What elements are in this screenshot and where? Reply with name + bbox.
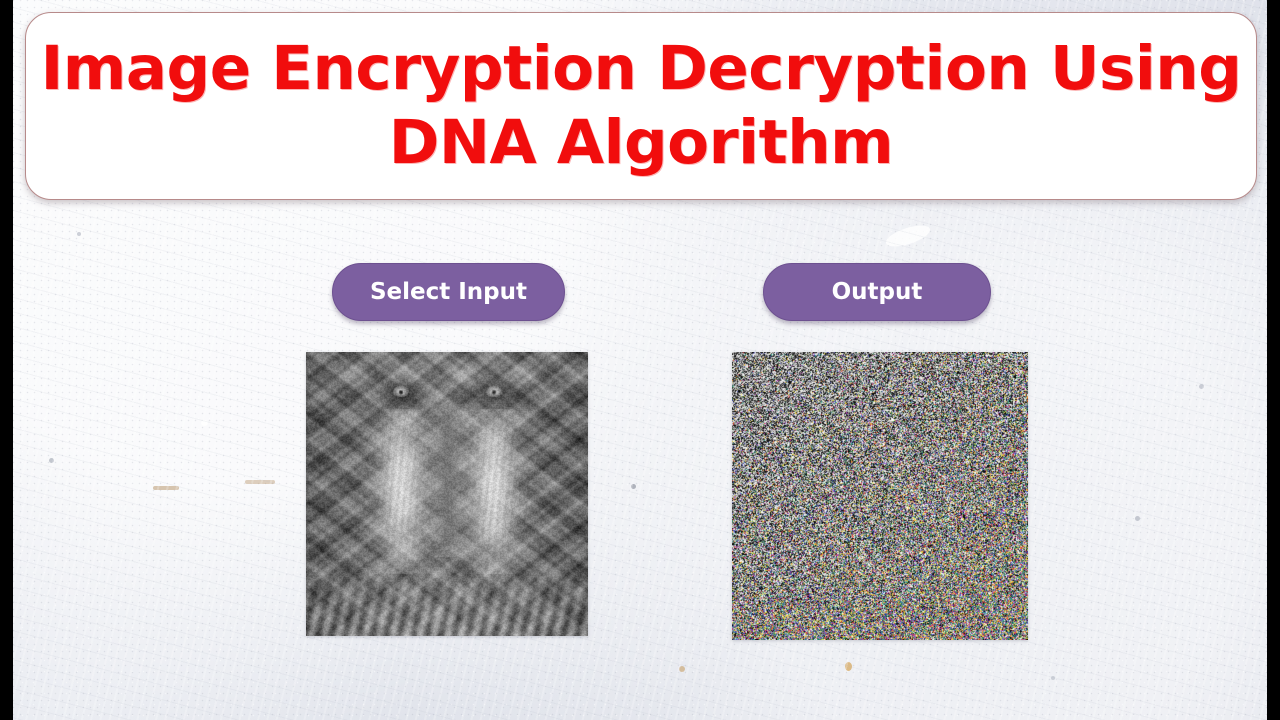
letterbox-left xyxy=(0,0,13,720)
select-input-button[interactable]: Select Input xyxy=(332,263,565,321)
page-title-line-2: DNA Algorithm xyxy=(389,110,893,176)
wall-fleck xyxy=(153,486,179,490)
output-image-panel[interactable] xyxy=(732,352,1028,640)
wall-fleck xyxy=(77,232,81,236)
wall-fleck xyxy=(245,480,275,484)
wall-fleck xyxy=(1199,384,1204,389)
output-image xyxy=(732,352,1028,640)
wall-fleck xyxy=(1051,676,1055,680)
input-image xyxy=(306,352,588,636)
wall-fleck xyxy=(49,458,54,463)
output-button-label: Output xyxy=(832,279,923,305)
title-panel: Image Encryption Decryption Using DNA Al… xyxy=(25,12,1257,200)
wall-fleck xyxy=(845,662,852,671)
page-title-line-1: Image Encryption Decryption Using xyxy=(41,36,1242,102)
output-button[interactable]: Output xyxy=(763,263,991,321)
wall-fleck xyxy=(201,420,208,426)
wall-fleck xyxy=(631,484,636,489)
wall-fleck xyxy=(679,666,685,672)
wall-fleck xyxy=(1135,516,1140,521)
select-input-button-label: Select Input xyxy=(370,279,527,305)
letterbox-right xyxy=(1267,0,1280,720)
input-image-panel[interactable] xyxy=(306,352,588,636)
wall-fleck xyxy=(884,221,933,250)
application-window: Image Encryption Decryption Using DNA Al… xyxy=(0,0,1280,720)
